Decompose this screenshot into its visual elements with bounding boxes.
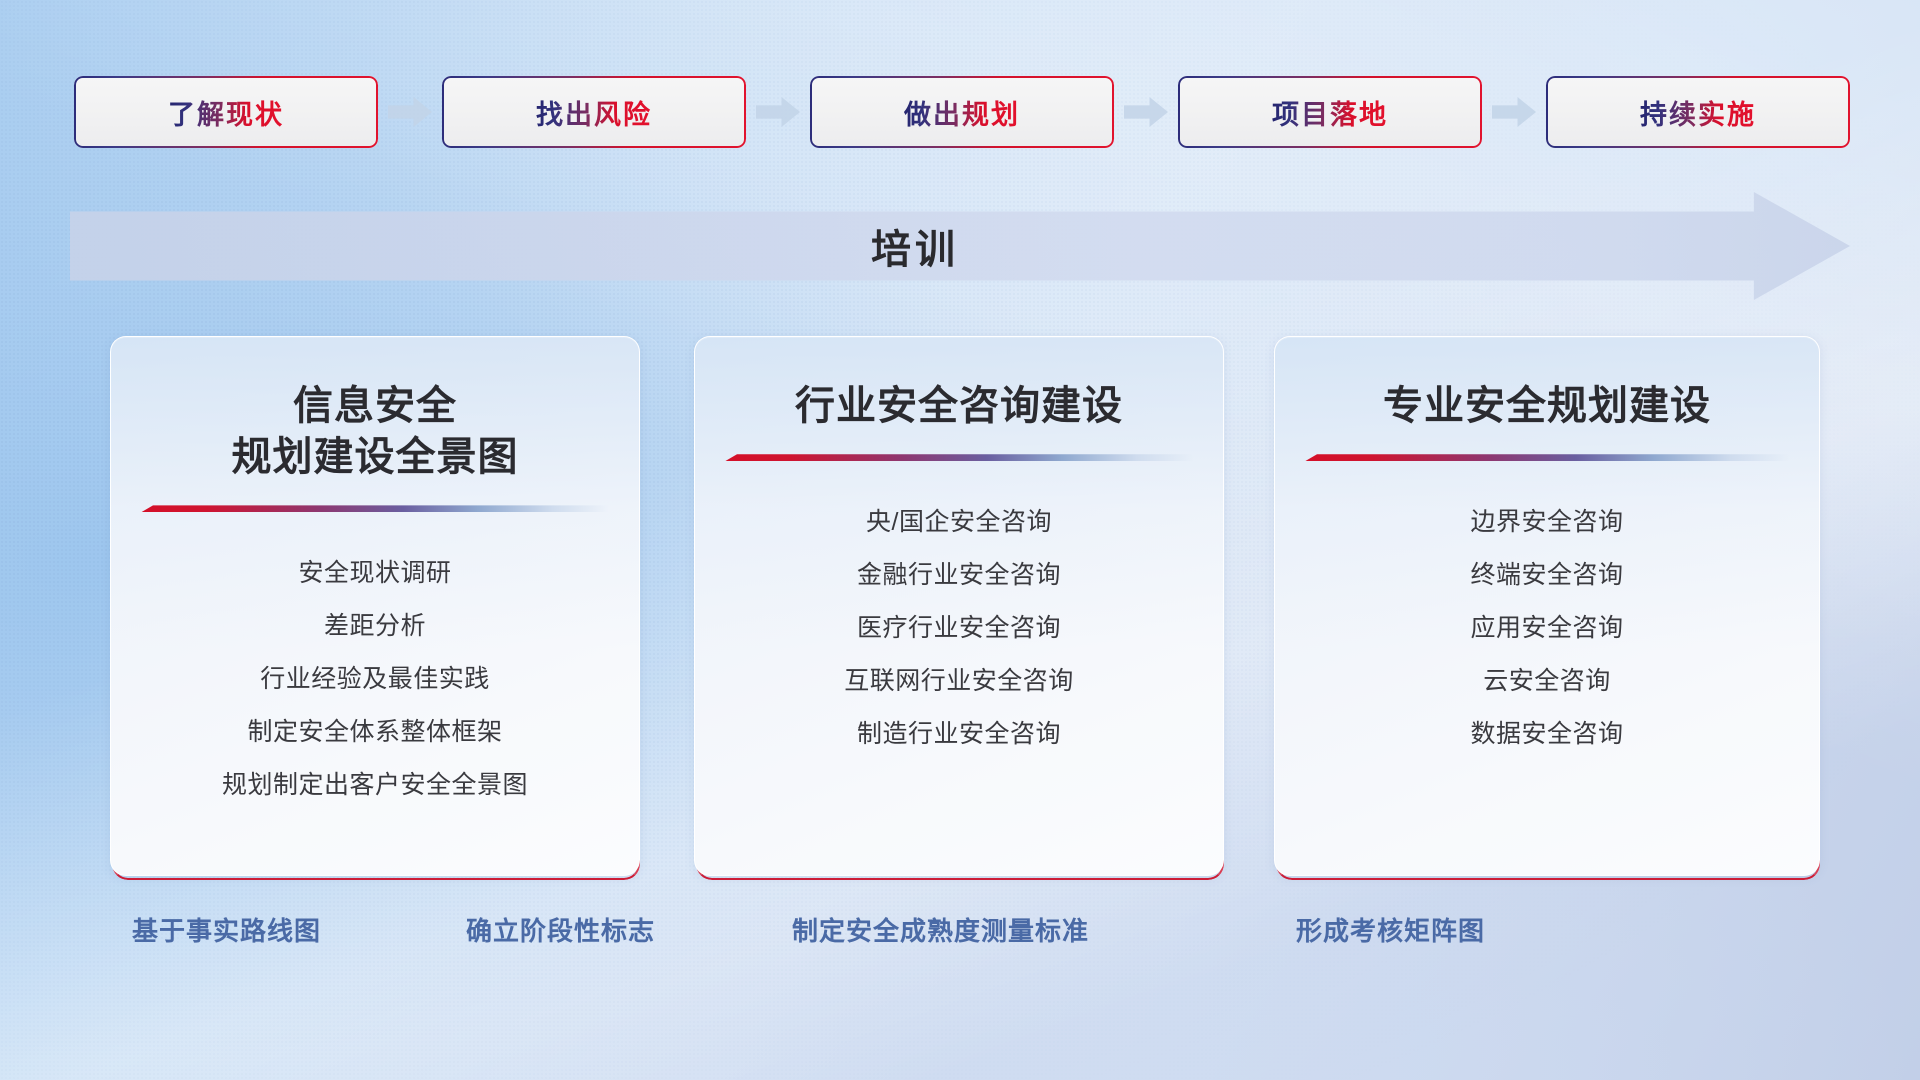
footer-label-3: 制定安全成熟度测量标准 [792,908,1089,954]
step-label-5: 持续实施 [1640,93,1756,132]
step-label-2: 找出风险 [536,93,652,132]
step-label-1: 了解现状 [168,93,284,132]
card-title: 专业安全规划建设 [1383,381,1711,432]
card-item-list: 边界安全咨询 终端安全咨询 应用安全咨询 云安全咨询 数据安全咨询 [1275,501,1819,756]
list-item: 云安全咨询 [1483,660,1611,703]
step-connector-3 [1114,93,1178,131]
list-item: 差距分析 [324,605,426,648]
card-information-security-blueprint[interactable]: 信息安全 规划建设全景图 安全现状调研 差距分析 行业经验及最佳实践 制定安全体… [110,336,640,876]
arrow-right-icon [1492,97,1536,127]
list-item: 央/国企安全咨询 [866,501,1052,544]
training-banner: 培训 [70,192,1850,300]
step-box-3[interactable]: 做出规划 [810,76,1114,148]
card-divider [141,505,609,512]
banner-title: 培训 [70,192,1760,300]
card-industry-security-consulting[interactable]: 行业安全咨询建设 央/国企安全咨询 金融行业安全咨询 医疗行业安全咨询 互联网行… [694,336,1224,876]
list-item: 安全现状调研 [298,552,451,595]
list-item: 制造行业安全咨询 [857,713,1061,756]
card-divider [1305,454,1789,461]
list-item: 行业经验及最佳实践 [260,658,490,701]
step-box-2[interactable]: 找出风险 [442,76,746,148]
step-connector-4 [1482,93,1546,131]
list-item: 应用安全咨询 [1470,607,1623,650]
footer-label-1: 基于事实路线图 [132,908,321,954]
step-connector-1 [378,93,442,131]
card-professional-security-planning[interactable]: 专业安全规划建设 边界安全咨询 终端安全咨询 应用安全咨询 云安全咨询 数据安全… [1274,336,1820,876]
step-connector-2 [746,93,810,131]
card-title: 信息安全 规划建设全景图 [232,381,519,483]
list-item: 规划制定出客户安全全景图 [222,764,528,807]
arrow-right-icon [388,97,432,127]
footer-label-2: 确立阶段性标志 [466,908,655,954]
card-item-list: 安全现状调研 差距分析 行业经验及最佳实践 制定安全体系整体框架 规划制定出客户… [111,552,639,807]
footer-label-row: 基于事实路线图 确立阶段性标志 制定安全成熟度测量标准 形成考核矩阵图 [0,908,1920,968]
list-item: 终端安全咨询 [1470,554,1623,597]
arrow-right-icon [1124,97,1168,127]
card-panel: 专业安全规划建设 边界安全咨询 终端安全咨询 应用安全咨询 云安全咨询 数据安全… [1274,336,1820,876]
card-title: 行业安全咨询建设 [795,381,1123,432]
step-box-4[interactable]: 项目落地 [1178,76,1482,148]
card-panel: 信息安全 规划建设全景图 安全现状调研 差距分析 行业经验及最佳实践 制定安全体… [110,336,640,876]
step-label-4: 项目落地 [1272,93,1388,132]
card-item-list: 央/国企安全咨询 金融行业安全咨询 医疗行业安全咨询 互联网行业安全咨询 制造行… [695,501,1223,756]
card-group: 信息安全 规划建设全景图 安全现状调研 差距分析 行业经验及最佳实践 制定安全体… [0,336,1920,876]
step-box-5[interactable]: 持续实施 [1546,76,1850,148]
step-box-1[interactable]: 了解现状 [74,76,378,148]
card-divider [725,454,1193,461]
step-label-3: 做出规划 [904,93,1020,132]
arrow-right-icon [756,97,800,127]
list-item: 数据安全咨询 [1470,713,1623,756]
list-item: 医疗行业安全咨询 [857,607,1061,650]
list-item: 互联网行业安全咨询 [844,660,1074,703]
footer-label-4: 形成考核矩阵图 [1296,908,1485,954]
list-item: 金融行业安全咨询 [857,554,1061,597]
list-item: 边界安全咨询 [1470,501,1623,544]
process-step-flow: 了解现状 找出风险 做出规划 项目落地 持续实施 [74,76,1850,148]
list-item: 制定安全体系整体框架 [247,711,502,754]
card-panel: 行业安全咨询建设 央/国企安全咨询 金融行业安全咨询 医疗行业安全咨询 互联网行… [694,336,1224,876]
